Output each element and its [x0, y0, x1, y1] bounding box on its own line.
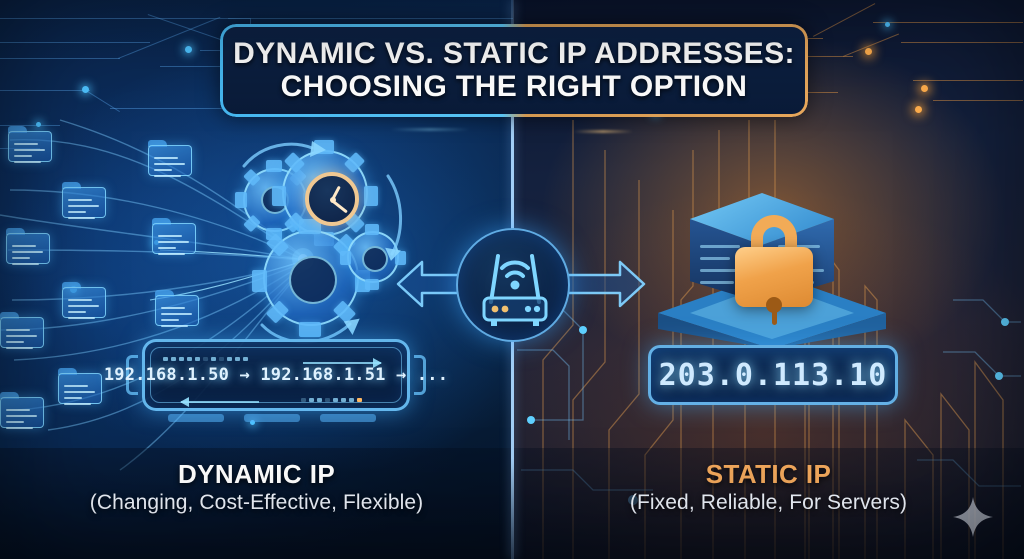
- dynamic-ip-label: DYNAMIC IP: [0, 460, 513, 489]
- static-ip-sublabel: (Fixed, Reliable, For Servers): [513, 491, 1024, 515]
- static-ip-label: STATIC IP: [513, 460, 1024, 489]
- static-ip-caption: STATIC IP (Fixed, Reliable, For Servers): [513, 460, 1024, 515]
- padlock-icon: [735, 215, 813, 307]
- dynamic-ip-sublabel: (Changing, Cost-Effective, Flexible): [0, 491, 513, 515]
- static-ip-display-panel: 203.0.113.10: [648, 345, 898, 405]
- title-banner: DYNAMIC VS. STATIC IP ADDRESSES: CHOOSIN…: [220, 24, 808, 117]
- infographic-canvas: 192.168.1.50 → 192.168.1.51 → ...: [0, 0, 1024, 559]
- server-cube-icon: [640, 165, 906, 350]
- title-line-2: CHOOSING THE RIGHT OPTION: [281, 71, 748, 103]
- dynamic-ip-display-panel: 192.168.1.50 → 192.168.1.51 → ...: [142, 339, 410, 411]
- title-line-1: DYNAMIC VS. STATIC IP ADDRESSES:: [233, 38, 795, 70]
- dynamic-ip-caption: DYNAMIC IP (Changing, Cost-Effective, Fl…: [0, 460, 513, 515]
- sparkle-star-icon: [952, 496, 994, 538]
- dynamic-ip-value: 192.168.1.50 → 192.168.1.51 → ...: [104, 365, 448, 385]
- arrow-right-icon: [566, 258, 646, 310]
- wifi-router-icon: [456, 228, 570, 342]
- static-ip-value: 203.0.113.10: [659, 358, 888, 393]
